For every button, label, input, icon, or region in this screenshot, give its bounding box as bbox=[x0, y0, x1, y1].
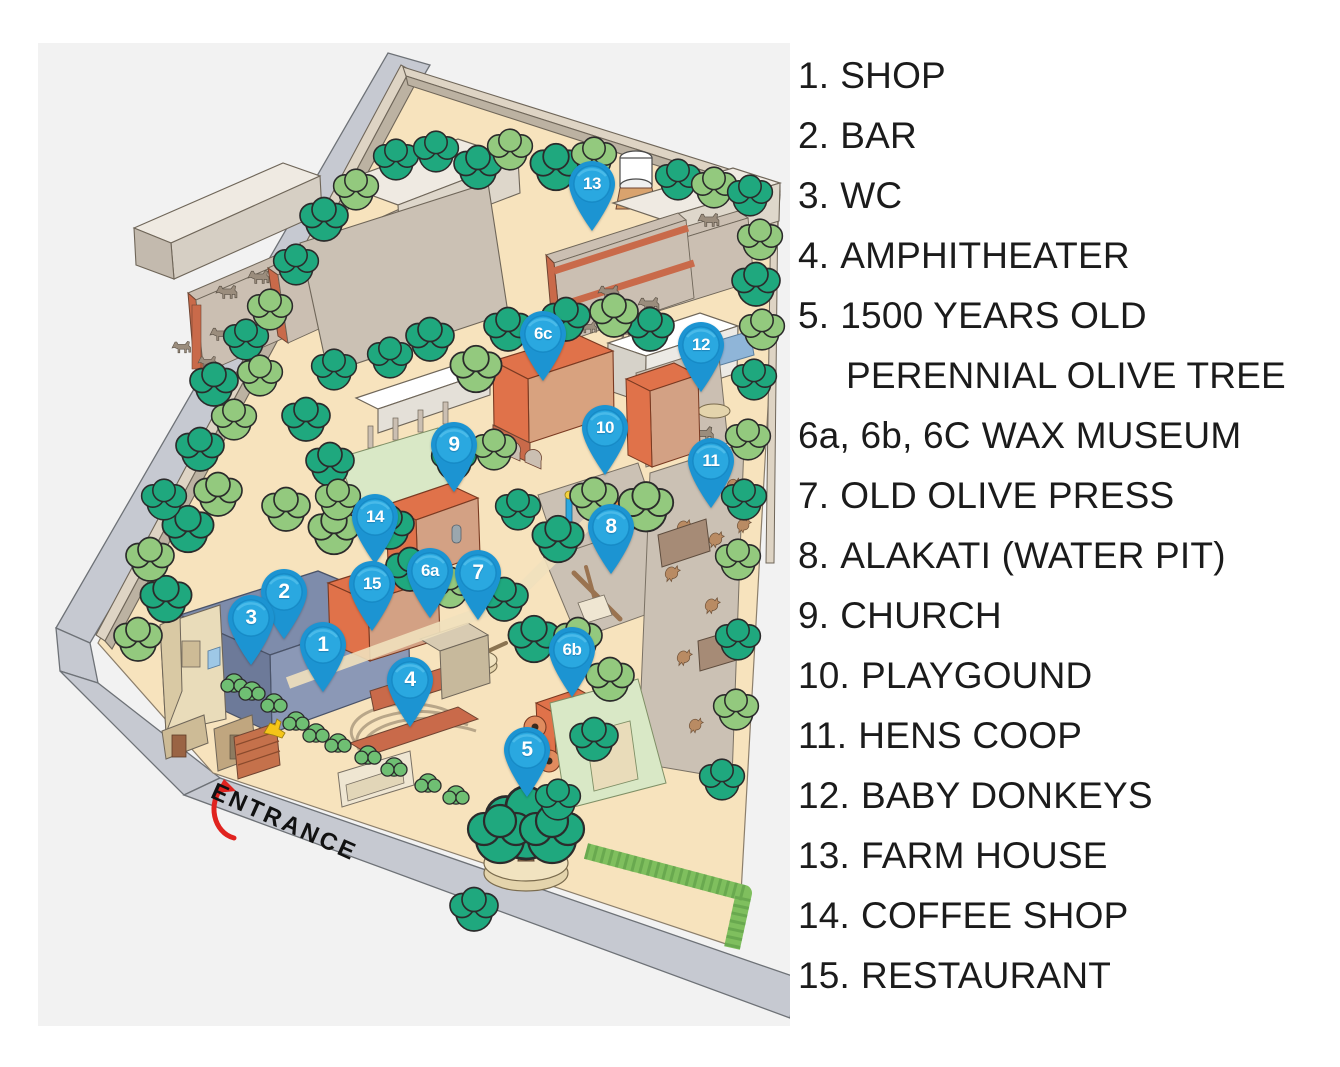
map-pin-6b[interactable]: 6b bbox=[544, 624, 600, 698]
legend-item-number: 10. bbox=[798, 646, 850, 706]
legend-item-number: 9. bbox=[798, 586, 829, 646]
legend-item-label: AMPHITHEATER bbox=[840, 226, 1130, 286]
pin-icon bbox=[499, 724, 555, 798]
park-map[interactable]: 123456a6b6c789101112131415 ENTRANCE bbox=[38, 43, 790, 1026]
legend-item-number: 11. bbox=[798, 706, 847, 766]
legend-item-label-continued: PERENNIAL OLIVE TREE bbox=[846, 346, 1286, 406]
legend-item-12: 12.BABY DONKEYS bbox=[798, 766, 1318, 826]
legend-item-label: ALAKATI (WATER PIT) bbox=[840, 526, 1225, 586]
map-pin-7[interactable]: 7 bbox=[450, 547, 506, 621]
legend-item-11: 11.HENS COOP bbox=[798, 706, 1318, 766]
pin-icon bbox=[223, 592, 279, 666]
pin-icon bbox=[426, 419, 482, 493]
map-legend: 1.SHOP2.BAR3.WC4.AMPHITHEATER5.1500 YEAR… bbox=[798, 46, 1318, 1006]
legend-item-number: 6a, 6b, 6C bbox=[798, 406, 971, 466]
map-pin-8[interactable]: 8 bbox=[583, 501, 639, 575]
legend-item-15: 15.RESTAURANT bbox=[798, 946, 1318, 1006]
legend-item-number: 5. bbox=[798, 286, 829, 346]
map-pin-9[interactable]: 9 bbox=[426, 419, 482, 493]
map-pin-5[interactable]: 5 bbox=[499, 724, 555, 798]
legend-item-10: 10.PLAYGOUND bbox=[798, 646, 1318, 706]
legend-item-number: 13. bbox=[798, 826, 850, 886]
legend-item-number: 8. bbox=[798, 526, 829, 586]
legend-item-number: 4. bbox=[798, 226, 829, 286]
legend-item-label: BAR bbox=[840, 106, 917, 166]
legend-item-label: FARM HOUSE bbox=[861, 826, 1108, 886]
legend-item-label: WC bbox=[840, 166, 902, 226]
map-pin-3[interactable]: 3 bbox=[223, 592, 279, 666]
legend-item-3: 3.WC bbox=[798, 166, 1318, 226]
legend-item-label: SHOP bbox=[840, 46, 946, 106]
legend-item-number: 7. bbox=[798, 466, 829, 526]
legend-item-label: 1500 YEARS OLD bbox=[840, 286, 1147, 346]
pin-icon bbox=[564, 158, 620, 232]
legend-item-9: 9.CHURCH bbox=[798, 586, 1318, 646]
legend-item-number: 2. bbox=[798, 106, 829, 166]
legend-item-label: CHURCH bbox=[840, 586, 1002, 646]
pin-icon bbox=[347, 491, 403, 565]
pin-icon bbox=[673, 319, 729, 393]
legend-item-5-continued: PERENNIAL OLIVE TREE bbox=[798, 346, 1318, 406]
map-pin-13[interactable]: 13 bbox=[564, 158, 620, 232]
legend-item-number: 1. bbox=[798, 46, 829, 106]
legend-item-7: 7.OLD OLIVE PRESS bbox=[798, 466, 1318, 526]
legend-item-1: 1.SHOP bbox=[798, 46, 1318, 106]
pin-icon bbox=[577, 402, 633, 476]
legend-item-label: BABY DONKEYS bbox=[861, 766, 1153, 826]
map-pin-6c[interactable]: 6c bbox=[515, 308, 571, 382]
legend-item-label: RESTAURANT bbox=[861, 946, 1111, 1006]
map-pin-10[interactable]: 10 bbox=[577, 402, 633, 476]
pin-icon bbox=[544, 624, 600, 698]
legend-item-number: 3. bbox=[798, 166, 829, 226]
pin-icon bbox=[683, 435, 739, 509]
legend-item-number: 14. bbox=[798, 886, 850, 946]
legend-item-number: 12. bbox=[798, 766, 850, 826]
pin-icon bbox=[344, 558, 400, 632]
map-pin-15[interactable]: 15 bbox=[344, 558, 400, 632]
legend-item-13: 13.FARM HOUSE bbox=[798, 826, 1318, 886]
legend-item-5: 5.1500 YEARS OLD bbox=[798, 286, 1318, 346]
legend-item-number: 15. bbox=[798, 946, 850, 1006]
legend-item-label: HENS COOP bbox=[858, 706, 1082, 766]
legend-item-14: 14.COFFEE SHOP bbox=[798, 886, 1318, 946]
pin-icon bbox=[382, 654, 438, 728]
legend-item-4: 4.AMPHITHEATER bbox=[798, 226, 1318, 286]
pin-icon bbox=[515, 308, 571, 382]
legend-item-6: 6a, 6b, 6CWAX MUSEUM bbox=[798, 406, 1318, 466]
legend-item-label: PLAYGOUND bbox=[861, 646, 1092, 706]
pin-icon bbox=[583, 501, 639, 575]
map-pin-12[interactable]: 12 bbox=[673, 319, 729, 393]
legend-item-2: 2.BAR bbox=[798, 106, 1318, 166]
legend-item-label: COFFEE SHOP bbox=[861, 886, 1128, 946]
pin-icon bbox=[450, 547, 506, 621]
legend-item-8: 8.ALAKATI (WATER PIT) bbox=[798, 526, 1318, 586]
map-pin-11[interactable]: 11 bbox=[683, 435, 739, 509]
legend-item-label: WAX MUSEUM bbox=[982, 406, 1242, 466]
map-pin-4[interactable]: 4 bbox=[382, 654, 438, 728]
map-pin-14[interactable]: 14 bbox=[347, 491, 403, 565]
map-pin-layer: 123456a6b6c789101112131415 bbox=[38, 43, 790, 1026]
legend-item-label: OLD OLIVE PRESS bbox=[840, 466, 1174, 526]
map-page: 123456a6b6c789101112131415 ENTRANCE 1.SH… bbox=[0, 0, 1340, 1067]
